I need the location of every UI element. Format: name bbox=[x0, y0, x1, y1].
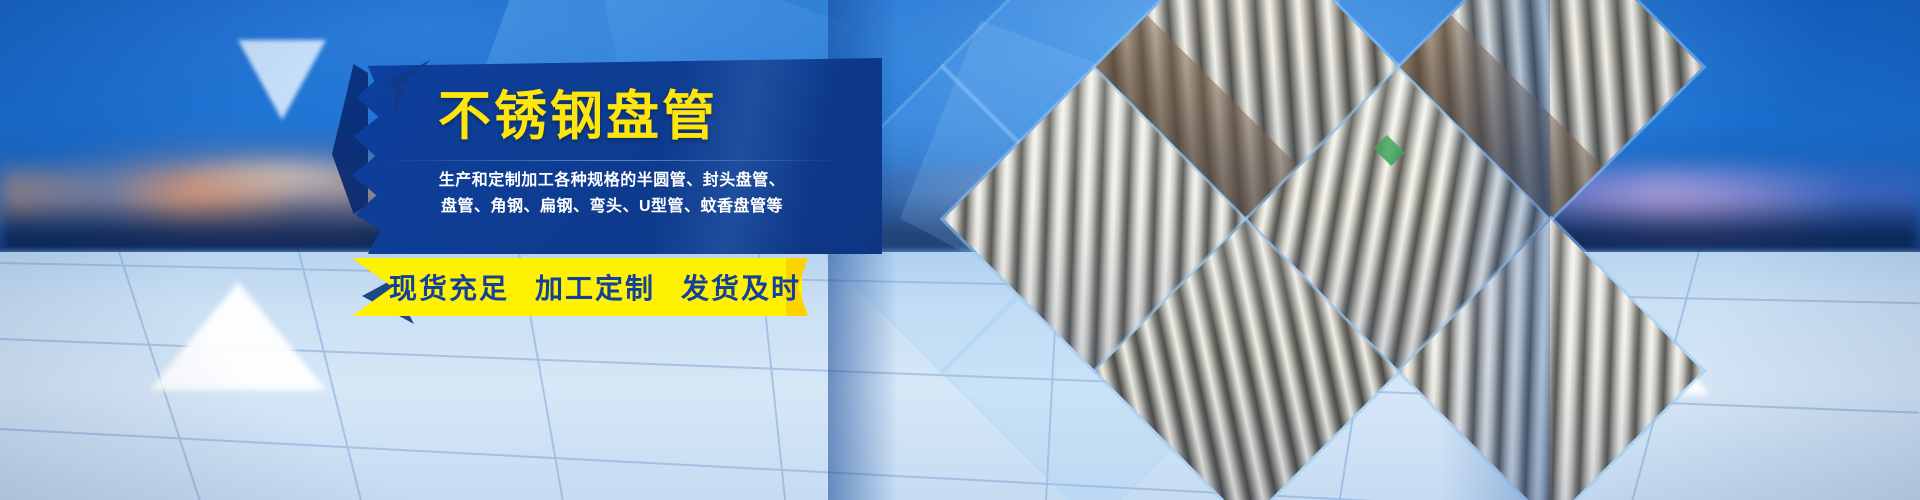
subtitle-line-2: 盘管、角钢、扁钢、弯头、U型管、蚊香盘管等 bbox=[352, 194, 872, 220]
feature-item-stock: 现货充足 bbox=[389, 267, 509, 307]
decorative-triangle-top bbox=[238, 40, 326, 120]
subtitle-block: 生产和定制加工各种规格的半圆管、封头盘管、 盘管、角钢、扁钢、弯头、U型管、蚊香… bbox=[352, 168, 872, 220]
subtitle-line-1: 生产和定制加工各种规格的半圆管、封头盘管、 bbox=[352, 168, 872, 194]
product-photo-collage bbox=[828, 0, 1528, 500]
feature-list: 现货充足 加工定制 发货及时 bbox=[392, 258, 798, 316]
feature-item-custom: 加工定制 bbox=[535, 267, 655, 307]
feature-item-shipping: 发货及时 bbox=[681, 267, 801, 307]
page-title: 不锈钢盘管 bbox=[438, 90, 718, 143]
title-divider bbox=[380, 160, 850, 161]
product-banner: 不锈钢盘管 生产和定制加工各种规格的半圆管、封头盘管、 盘管、角钢、扁钢、弯头、… bbox=[0, 0, 1920, 500]
decorative-triangle-left bbox=[150, 282, 326, 390]
